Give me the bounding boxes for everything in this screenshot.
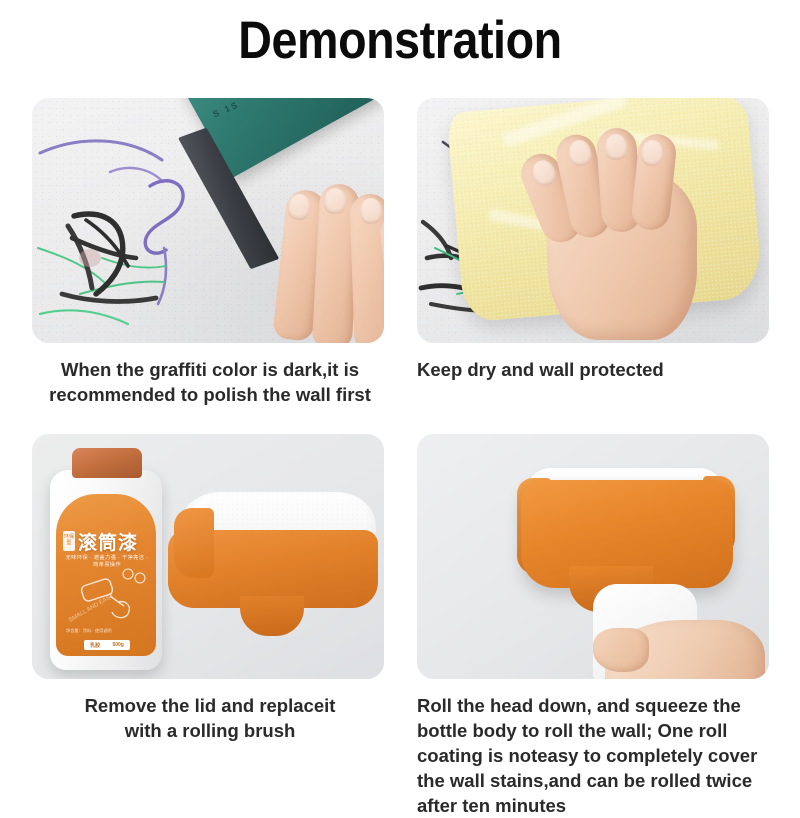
roller-stem: [240, 596, 304, 636]
label-title: 滚筒漆: [78, 528, 138, 555]
page-title: Demonstration: [48, 10, 752, 71]
badge-type: 乳胶: [90, 642, 100, 649]
step-4-caption-line-3: coating is noteasy to completely cover: [417, 743, 773, 768]
step-4-caption-line-1: Roll the head down, and squeeze the: [417, 693, 773, 718]
roller-side-wing: [174, 508, 214, 578]
roller-brush-head: [168, 492, 378, 652]
step-card-4: Roll the head down, and squeeze the bott…: [417, 434, 773, 818]
bottle-label: 环保型 滚筒漆 无味环保 · 遮盖力强 · 干净亮洁 · 简单易操作 SMALL…: [56, 494, 156, 656]
step-4-caption-line-4: the wall stains,and can be rolled twice: [417, 768, 773, 793]
step-4-caption-line-5: after ten minutes: [417, 793, 773, 818]
hand-holding-sanding-block: [270, 184, 384, 343]
step-1-caption-line-2: recommended to polish the wall first: [32, 382, 388, 407]
bottle-cap: [72, 448, 142, 478]
step-2-photo: [417, 98, 769, 343]
step-3-photo: 环保型 滚筒漆 无味环保 · 遮盖力强 · 干净亮洁 · 简单易操作 SMALL…: [32, 434, 384, 679]
paint-bottle: 环保型 滚筒漆 无味环保 · 遮盖力强 · 干净亮洁 · 简单易操作 SMALL…: [50, 448, 162, 670]
hand-wiping-wall: [513, 116, 723, 341]
step-1-caption-line-1: When the graffiti color is dark,it is: [32, 357, 388, 382]
step-4-caption: Roll the head down, and squeeze the bott…: [417, 693, 773, 818]
thumb: [593, 628, 649, 672]
step-4-caption-line-2: bottle body to roll the wall; One roll: [417, 718, 773, 743]
step-4-photo: [417, 434, 769, 679]
step-1-photo: QBTAOCC S 1S 60: [32, 98, 384, 343]
label-eco-tag: 环保型: [63, 531, 75, 551]
svg-text:SMALL AND EASY: SMALL AND EASY: [68, 593, 115, 624]
badge-weight: 500g: [112, 642, 123, 648]
step-2-caption: Keep dry and wall protected: [417, 357, 773, 382]
step-card-1: QBTAOCC S 1S 60 When the graffiti color …: [32, 98, 388, 407]
step-3-caption-line-1: Remove the lid and replaceit: [32, 693, 388, 718]
step-2-caption-line-1: Keep dry and wall protected: [417, 357, 773, 382]
step-card-3: 环保型 滚筒漆 无味环保 · 遮盖力强 · 干净亮洁 · 简单易操作 SMALL…: [32, 434, 388, 743]
label-badge: 乳胶 500g: [84, 640, 130, 650]
step-card-2: Keep dry and wall protected: [417, 98, 773, 382]
step-3-caption: Remove the lid and replaceit with a roll…: [32, 693, 388, 743]
label-fine-print: 净含量：涂料 · 使用说明: [66, 628, 148, 634]
roller-line-art: SMALL AND EASY: [66, 566, 148, 628]
step-3-caption-line-2: with a rolling brush: [32, 718, 388, 743]
step-1-caption: When the graffiti color is dark,it is re…: [32, 357, 388, 407]
hand-squeezing-bottle: [585, 602, 765, 679]
